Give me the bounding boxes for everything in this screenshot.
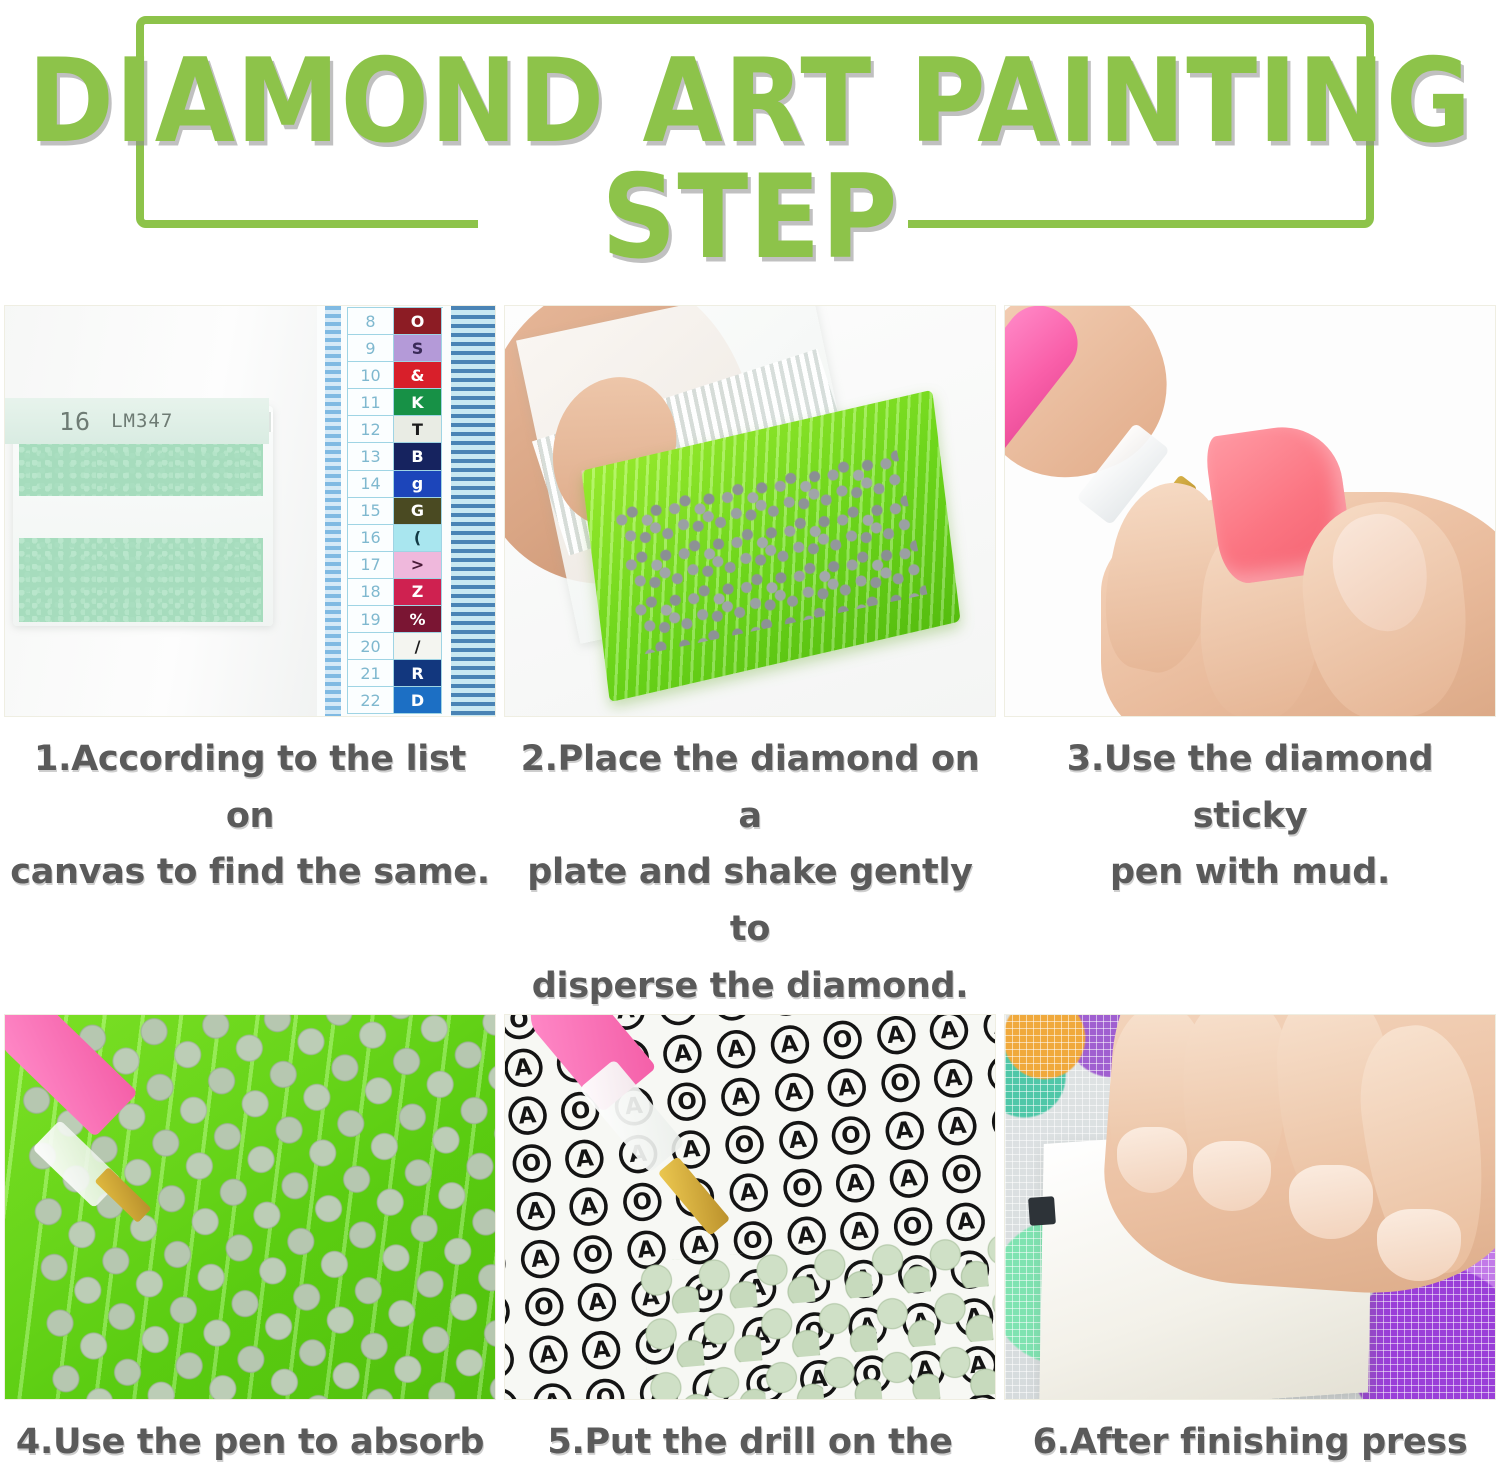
bag-label-code: LM347 — [111, 410, 173, 432]
canvas-symbol-cell: O — [658, 1076, 715, 1128]
chart-right-wave-pattern — [451, 306, 495, 716]
step-2-photo — [504, 305, 996, 717]
legend-row-number: 13 — [348, 443, 394, 470]
legend-row: 10& — [348, 362, 443, 389]
canvas-symbol-cell: O — [716, 1119, 773, 1171]
canvas-symbol-cell: A — [925, 1053, 982, 1105]
book-spine-corner — [1028, 1197, 1056, 1227]
canvas-symbol-cell: A — [507, 1185, 564, 1237]
step-5-photo: AOAAOAAOAAOOAAOAAAOAAAAAOAOAAAOAOAOAAAOA… — [504, 1014, 996, 1400]
legend-row: 9S — [348, 335, 443, 362]
step-1-caption: 1.According to the list on canvas to fin… — [0, 717, 500, 901]
step-6-photo — [1004, 1014, 1496, 1400]
chart-left-wave-pattern — [325, 306, 341, 716]
caption-line: pen with mud. — [1006, 844, 1494, 901]
step-card-2: 2.Place the diamond on a plate and shake… — [500, 305, 1000, 1014]
legend-row-symbol: g — [394, 471, 442, 498]
canvas-symbol-cell: A — [929, 1100, 986, 1152]
canvas-symbol-cell: O — [978, 1048, 996, 1100]
legend-row: 8O — [348, 308, 443, 335]
canvas-symbol-cell: O — [773, 1162, 830, 1214]
legend-row-symbol: > — [394, 552, 442, 579]
step-2-caption: 2.Place the diamond on a plate and shake… — [500, 717, 1000, 1014]
legend-row-symbol: T — [394, 416, 442, 443]
legend-row-symbol: / — [394, 633, 442, 660]
step-3-caption: 3.Use the diamond sticky pen with mud. — [1000, 717, 1500, 901]
canvas-symbol-cell: O — [614, 1176, 671, 1228]
page-title-line-1: DIAMOND ART PAINTING — [0, 44, 1500, 160]
canvas-symbol-cell: A — [524, 1377, 581, 1401]
legend-row: 18Z — [348, 579, 443, 606]
canvas-symbol-cell: A — [560, 1181, 617, 1233]
legend-row: 11K — [348, 389, 443, 416]
colour-chart-strip: 8O9S10&11K12T13B14g15G16(17>18Z19%20/21R… — [317, 306, 495, 716]
canvas-symbol-cell: O — [577, 1372, 634, 1400]
canvas-symbol-cell: A — [818, 1062, 875, 1114]
legend-row-number: 16 — [348, 525, 394, 552]
steps-grid: 16 LM347 8O9S10&11K12T13B14g15G16(17>18Z… — [0, 305, 1500, 1477]
step-card-3: 3.Use the diamond sticky pen with mud. — [1000, 305, 1500, 1014]
legend-row-symbol: % — [394, 606, 442, 633]
canvas-symbol-cell: A — [556, 1133, 613, 1185]
legend-row-number: 21 — [348, 660, 394, 687]
legend-row-symbol: R — [394, 660, 442, 687]
legend-row-number: 8 — [348, 308, 394, 335]
step-card-4: 4.Use the pen to absorb the diamond. — [0, 1014, 500, 1477]
canvas-symbol-cell: A — [520, 1329, 577, 1381]
step-card-6: 6.After finishing press the painting wit… — [1000, 1014, 1500, 1477]
legend-row-number: 18 — [348, 579, 394, 606]
steps-row-top: 16 LM347 8O9S10&11K12T13B14g15G16(17>18Z… — [0, 305, 1500, 1014]
canvas-symbol-cell: A — [707, 1023, 764, 1075]
caption-line: 5.Put the drill on the — [506, 1414, 994, 1471]
infographic-page: DIAMOND ART PAINTING STEP 16 LM3 — [0, 0, 1500, 1477]
canvas-symbol-cell: A — [765, 1067, 822, 1119]
legend-row-symbol: S — [394, 335, 442, 362]
canvas-symbol-cell: A — [769, 1114, 826, 1166]
step-3-photo — [1004, 305, 1496, 717]
canvas-symbol-cell: O — [504, 1138, 560, 1190]
step-card-1: 16 LM347 8O9S10&11K12T13B14g15G16(17>18Z… — [0, 305, 500, 1014]
canvas-symbol-cell: A — [573, 1324, 630, 1376]
legend-row-number: 22 — [348, 687, 394, 714]
legend-row: 21R — [348, 660, 443, 687]
caption-line: 4.Use the pen to absorb — [6, 1414, 494, 1471]
caption-line: canvas to find the same. — [6, 844, 494, 901]
legend-row-symbol: K — [394, 389, 442, 416]
legend-row: 14g — [348, 471, 443, 498]
legend-row-number: 11 — [348, 389, 394, 416]
caption-line: 1.According to the list on — [6, 731, 494, 844]
legend-row-number: 20 — [348, 633, 394, 660]
green-beads-lower — [19, 538, 263, 622]
step-4-caption: 4.Use the pen to absorb the diamond. — [0, 1400, 500, 1477]
legend-row-number: 14 — [348, 471, 394, 498]
legend-row-number: 17 — [348, 552, 394, 579]
canvas-symbol-cell: O — [814, 1014, 871, 1066]
legend-row: 19% — [348, 606, 443, 633]
legend-row: 15G — [348, 498, 443, 525]
step-card-5: AOAAOAAOAAOOAAOAAAOAAAAAOAOAAAOAOAOAAAOA… — [500, 1014, 1000, 1477]
bag-label-number: 16 — [59, 407, 91, 436]
legend-row: 22D — [348, 687, 443, 714]
canvas-symbol-cell: A — [974, 1014, 996, 1052]
canvas-symbol-cell: A — [761, 1019, 818, 1071]
canvas-symbol-cell: A — [876, 1105, 933, 1157]
canvas-symbol-cell: A — [511, 1233, 568, 1285]
caption-line: corresponding canvas. — [506, 1471, 994, 1477]
canvas-symbol-cell: A — [720, 1167, 777, 1219]
canvas-symbol-cell: O — [871, 1057, 928, 1109]
step-4-photo — [4, 1014, 496, 1400]
canvas-symbol-cell: A — [867, 1014, 924, 1061]
title-block: DIAMOND ART PAINTING STEP — [0, 0, 1500, 300]
legend-row-symbol: Z — [394, 579, 442, 606]
legend-row-symbol: G — [394, 498, 442, 525]
legend-row-symbol: O — [394, 308, 442, 335]
legend-row-number: 10 — [348, 362, 394, 389]
legend-row-number: 12 — [348, 416, 394, 443]
legend-row-number: 15 — [348, 498, 394, 525]
canvas-symbol-cell: O — [564, 1229, 621, 1281]
canvas-symbol-cell: A — [880, 1153, 937, 1205]
bag-label: 16 LM347 — [4, 398, 269, 444]
canvas-symbol-cell: A — [654, 1028, 711, 1080]
legend-row: 20/ — [348, 633, 443, 660]
canvas-symbol-cell: A — [827, 1158, 884, 1210]
step-5-caption: 5.Put the drill on the corresponding can… — [500, 1400, 1000, 1477]
step-6-caption: 6.After finishing press the painting wit… — [1000, 1400, 1500, 1477]
page-title-line-2: STEP — [0, 160, 1500, 276]
legend-row: 16( — [348, 525, 443, 552]
legend-row: 13B — [348, 443, 443, 470]
caption-line: disperse the diamond. — [506, 958, 994, 1015]
legend-row: 12T — [348, 416, 443, 443]
legend-row-symbol: ( — [394, 525, 442, 552]
canvas-symbol-cell: A — [920, 1014, 977, 1057]
legend-row: 17> — [348, 552, 443, 579]
caption-line: the diamond. — [6, 1471, 494, 1477]
steps-row-bottom: 4.Use the pen to absorb the diamond. AOA… — [0, 1014, 1500, 1477]
caption-line: 2.Place the diamond on a — [506, 731, 994, 844]
caption-line: 6.After finishing press the — [1006, 1414, 1494, 1477]
canvas-symbol-cell: O — [515, 1281, 572, 1333]
legend-row-symbol: D — [394, 687, 442, 714]
legend-row-number: 19 — [348, 606, 394, 633]
canvas-symbol-cell: A — [504, 1090, 556, 1142]
caption-line: plate and shake gently to — [506, 844, 994, 957]
canvas-symbol-cell: A — [712, 1071, 769, 1123]
canvas-symbol-cell: O — [822, 1110, 879, 1162]
canvas-symbol-cell: A — [504, 1042, 552, 1094]
legend-row-number: 9 — [348, 335, 394, 362]
canvas-symbol-cell: O — [933, 1148, 990, 1200]
legend-row-symbol: & — [394, 362, 442, 389]
caption-line: 3.Use the diamond sticky — [1006, 731, 1494, 844]
canvas-symbol-cell: A — [569, 1276, 626, 1328]
legend-row-symbol: B — [394, 443, 442, 470]
step-1-photo: 16 LM347 8O9S10&11K12T13B14g15G16(17>18Z… — [4, 305, 496, 717]
colour-symbol-table: 8O9S10&11K12T13B14g15G16(17>18Z19%20/21R… — [347, 307, 443, 714]
